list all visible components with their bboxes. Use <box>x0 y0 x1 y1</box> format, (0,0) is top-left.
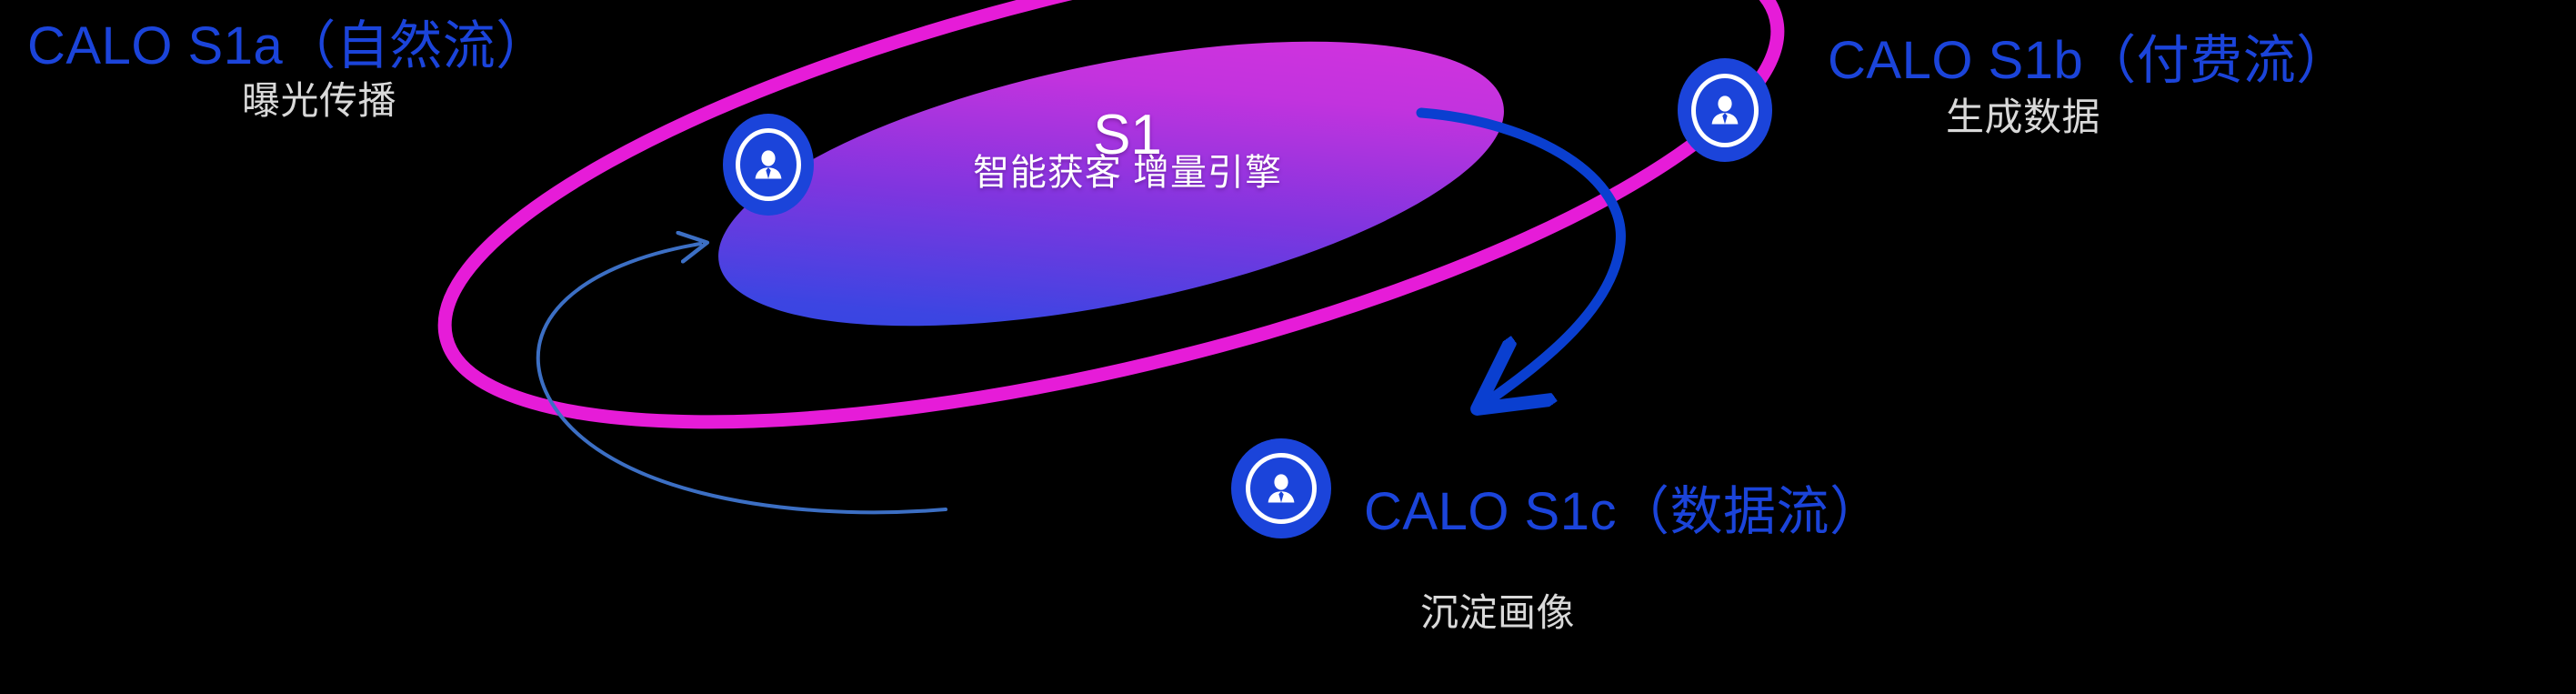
node-s1c-subtitle: 沉淀画像 <box>1420 594 1575 632</box>
diagram-canvas: S1 智能获客 增量引擎 CALO S1a（自然流） 曝光传播 CALO S1b… <box>0 0 2576 694</box>
node-s1a-avatar[interactable] <box>723 114 814 216</box>
user-avatar-icon <box>753 148 784 181</box>
node-s1b-subtitle: 生成数据 <box>1946 98 2100 136</box>
node-s1b-title: CALO S1b（付费流） <box>1828 35 2350 87</box>
node-s1b-avatar[interactable] <box>1678 58 1772 162</box>
user-avatar-icon <box>1266 472 1297 505</box>
node-s1a-title: CALO S1a（自然流） <box>27 20 549 73</box>
core-subtitle: 智能获客 增量引擎 <box>818 155 1437 191</box>
node-s1c-title: CALO S1c（数据流） <box>1364 486 1883 538</box>
node-s1c-avatar[interactable] <box>1231 438 1331 538</box>
node-s1a-subtitle: 曝光传播 <box>242 82 396 120</box>
user-avatar-icon <box>1709 94 1740 126</box>
